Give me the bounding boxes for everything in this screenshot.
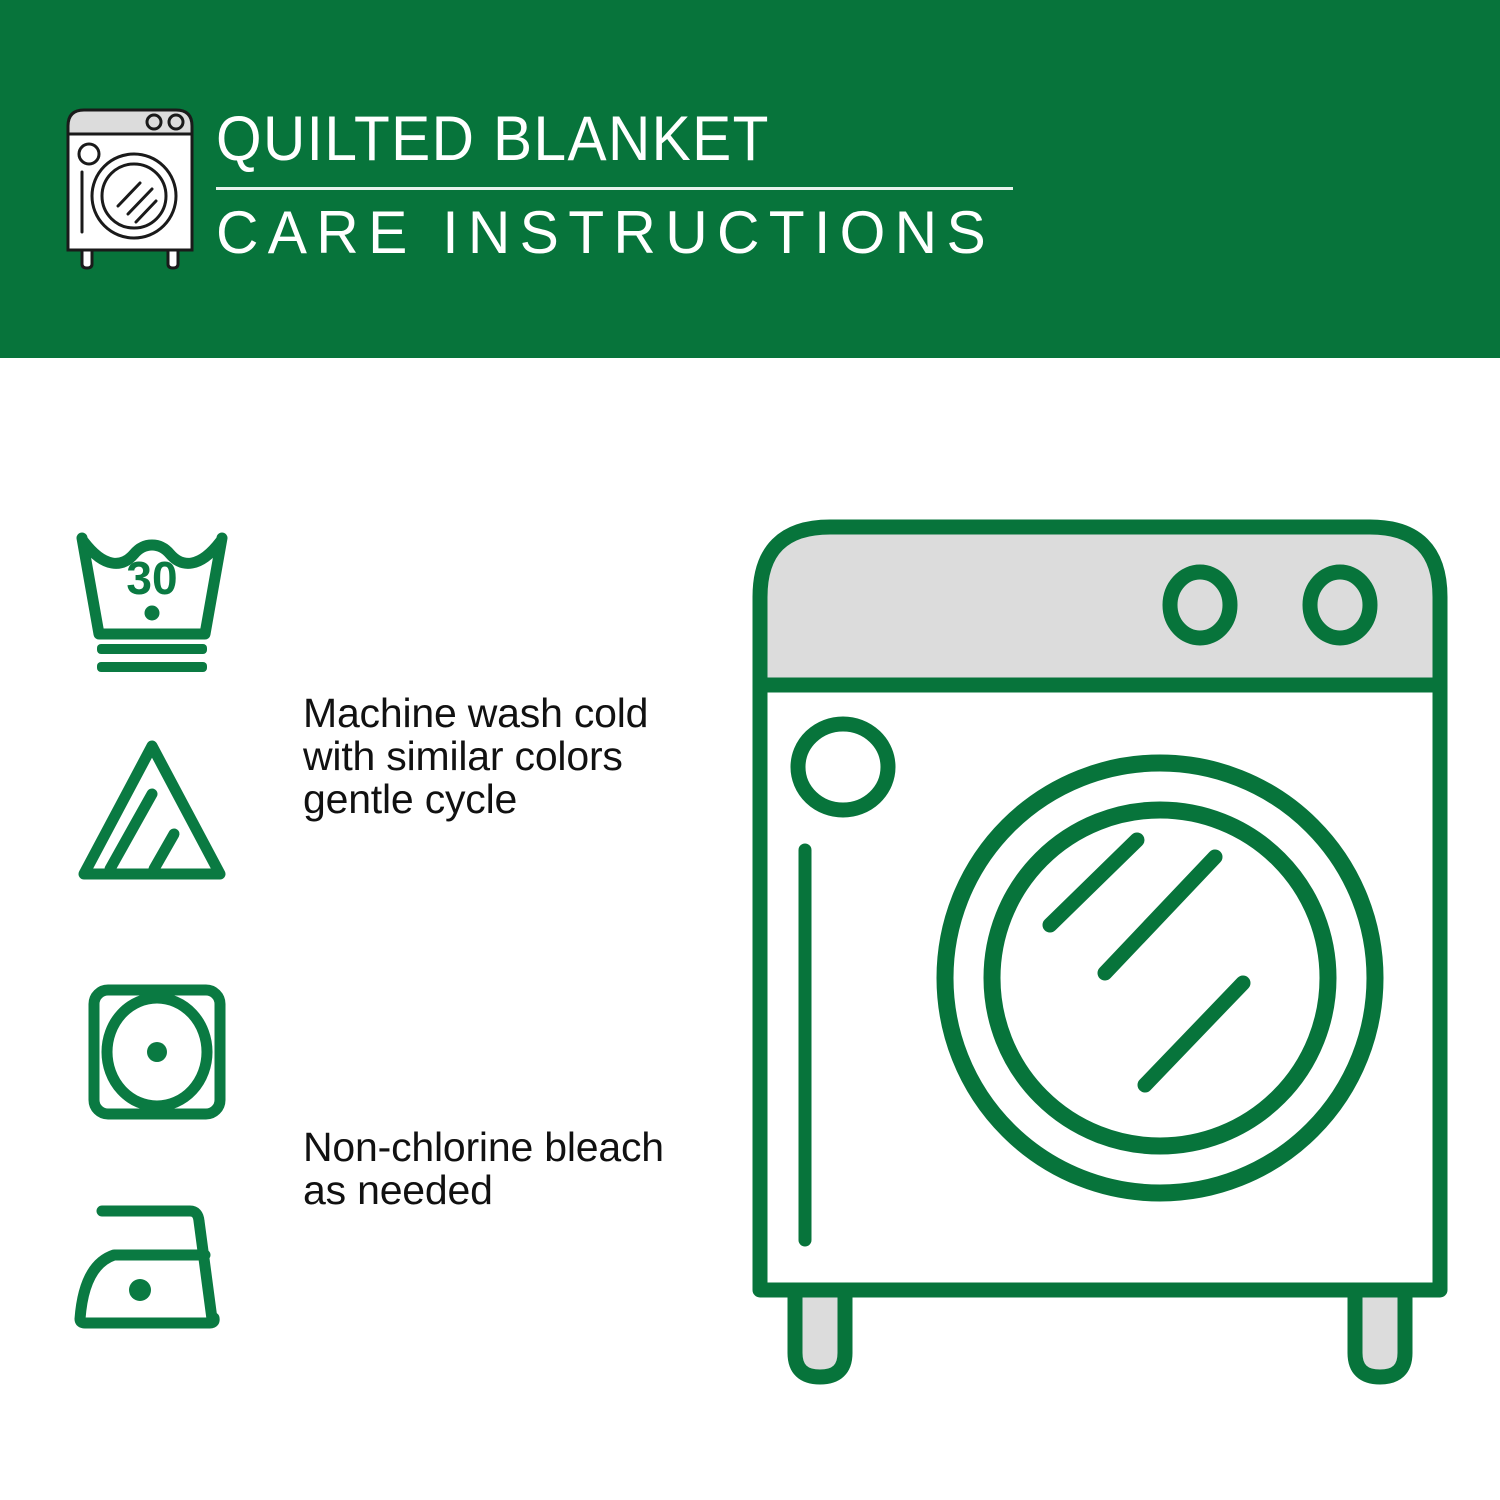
title-divider xyxy=(216,187,1013,190)
detergent-dispenser-circle xyxy=(798,724,888,810)
header-title-block: QUILTED BLANKET CARE INSTRUCTIONS xyxy=(216,104,1036,267)
page-subtitle: CARE INSTRUCTIONS xyxy=(216,199,1020,267)
machine-wash-tub-icon: 30 xyxy=(72,526,232,679)
iron-low-heat-icon xyxy=(72,1193,232,1346)
washing-machine-icon xyxy=(62,104,198,270)
front-load-washing-machine-illustration xyxy=(745,505,1455,1405)
header-banner: QUILTED BLANKET CARE INSTRUCTIONS xyxy=(0,0,1500,358)
non-chlorine-bleach-triangle-icon xyxy=(72,736,232,889)
wash-temperature-label: 30 xyxy=(126,552,177,604)
instruction-line: Machine wash cold xyxy=(303,692,648,735)
tumble-dry-low-icon xyxy=(72,978,232,1131)
leg-left xyxy=(795,1290,845,1377)
list-item: 30 Machine wash cold with similar colors… xyxy=(0,526,730,676)
list-item: Tumble dry low heat xyxy=(0,978,730,1118)
instruction-line: Non-chlorine bleach xyxy=(303,1126,664,1169)
knob-right xyxy=(1310,572,1370,638)
leg-right xyxy=(1355,1290,1405,1377)
list-item: Non-chlorine bleach as needed xyxy=(0,736,730,876)
care-instruction-list: 30 Machine wash cold with similar colors… xyxy=(0,358,730,1500)
page-title: QUILTED BLANKET xyxy=(216,104,979,174)
care-instructions-page: QUILTED BLANKET CARE INSTRUCTIONS 30 xyxy=(0,0,1500,1500)
door-inner-ring xyxy=(992,810,1328,1146)
knob-left xyxy=(1170,572,1230,638)
list-item: Iron if needed low heat xyxy=(0,1193,730,1333)
